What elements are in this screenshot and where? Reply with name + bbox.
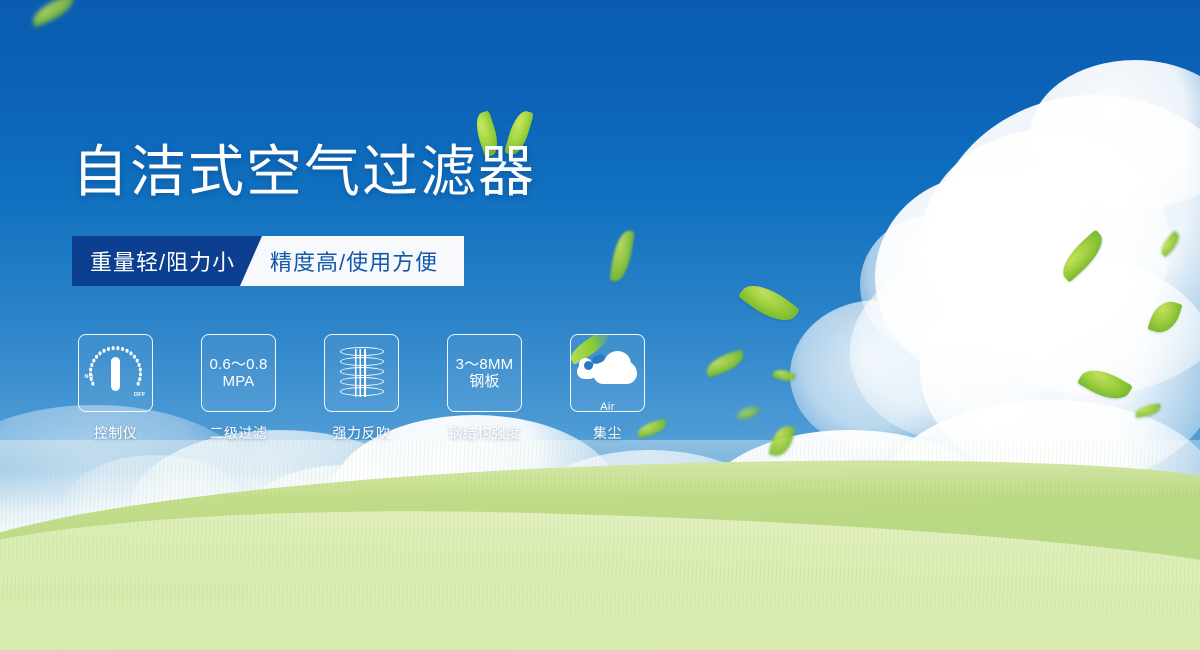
feature-item-dust[interactable]: Air 集尘 (570, 334, 645, 443)
leaf-icon (1077, 361, 1133, 408)
leaf-icon (1147, 297, 1182, 337)
filter-disc (340, 347, 384, 356)
grass-field (0, 440, 1200, 650)
leaf-icon (1157, 230, 1184, 257)
feature-item-steel[interactable]: 3～8MM 钢板 钢结构强度 (447, 334, 522, 443)
steel-plate-material: 钢板 (469, 373, 499, 390)
page-title: 自洁式空气过滤器 (72, 144, 536, 200)
feature-item-pressure[interactable]: 0.6～0.8 MPA 二级过滤 (201, 334, 276, 443)
grass-shading (0, 440, 1200, 650)
feature-label: 二级过滤 (210, 423, 268, 443)
gauge-tick-dot (90, 363, 93, 366)
gauge-tick-dot (92, 359, 95, 362)
leaf-icon (736, 406, 759, 420)
gauge-needle (111, 357, 120, 391)
feature-icon-box: NO OFF (78, 334, 153, 412)
subtitle-left-text: 重量轻/阻力小 (90, 236, 235, 286)
pressure-unit: MPA (223, 373, 255, 390)
feature-label: 钢结构强度 (448, 423, 521, 443)
gauge-tick-dot (138, 377, 141, 380)
gauge-tick-dot (121, 347, 124, 350)
gauge-tick-dot (107, 347, 110, 350)
gauge-tick-dot (112, 347, 115, 350)
feature-icon-box (324, 334, 399, 412)
feature-icon-box: 3～8MM 钢板 (447, 334, 522, 412)
gauge-icon: NO OFF (87, 344, 145, 402)
feature-item-blowback[interactable]: 强力反吹 (324, 334, 399, 443)
cloud-cutout (584, 361, 593, 370)
leaf-icon (1134, 403, 1161, 418)
gauge-tick-dot (98, 352, 101, 355)
leaf-icon (1055, 229, 1111, 282)
gauge-tick-dot (95, 355, 98, 358)
gauge-tick-dot (133, 355, 136, 358)
leaf-icon (29, 0, 78, 28)
gauge-tick-dot (102, 349, 105, 352)
leaf-icon (609, 229, 634, 283)
cloud-shape (920, 130, 1170, 360)
feature-label: 集尘 (593, 423, 622, 443)
filter-disc (340, 367, 384, 376)
gauge-tick-dot (90, 377, 93, 380)
leaf-icon (703, 349, 746, 378)
filter-disc (340, 377, 384, 386)
gauge-tick-dot (136, 359, 139, 362)
cloud-shape (790, 300, 965, 450)
gauge-tick-dot (91, 382, 94, 385)
gauge-tick-dot (139, 368, 142, 371)
gauge-tick-dot (137, 382, 140, 385)
cloud-shape (850, 265, 1050, 440)
feature-label: 控制仪 (94, 423, 138, 443)
filter-disc (340, 387, 384, 396)
feature-label: 强力反吹 (333, 423, 391, 443)
pressure-icon: 0.6～0.8 (209, 356, 267, 373)
air-label: Air (577, 401, 639, 412)
leaf-icon (738, 275, 800, 330)
filter-stack-icon (336, 345, 388, 401)
feature-icon-box: Air (570, 334, 645, 412)
gauge-tick-dot (125, 349, 128, 352)
feature-item-controller[interactable]: NO OFF 控制仪 (78, 334, 153, 443)
feature-icon-box: 0.6～0.8 MPA (201, 334, 276, 412)
filter-disc (340, 357, 384, 366)
gauge-off-label: OFF (134, 392, 146, 398)
subtitle-bar: 重量轻/阻力小 精度高/使用方便 (72, 236, 464, 286)
steel-plate-icon: 3～8MM (456, 356, 514, 373)
gauge-tick-dot (139, 373, 142, 376)
gauge-tick-dot (89, 368, 92, 371)
gauge-tick-dot (129, 352, 132, 355)
cloud-shape (1030, 60, 1200, 210)
air-cloud-icon: Air (577, 347, 639, 399)
gauge-tick-dot (138, 363, 141, 366)
subtitle-right-text: 精度高/使用方便 (270, 236, 438, 286)
hero-banner: 自洁式空气过滤器 重量轻/阻力小 精度高/使用方便 NO OFF 控制仪 0.6… (0, 0, 1200, 650)
cloud-shape (875, 175, 1090, 380)
leaf-icon (772, 366, 797, 384)
cloud-shape (930, 95, 1200, 395)
cloud-shape (860, 215, 1010, 355)
feature-list: NO OFF 控制仪 0.6～0.8 MPA 二级过滤 (78, 334, 645, 443)
gauge-tick-dot (116, 347, 119, 350)
